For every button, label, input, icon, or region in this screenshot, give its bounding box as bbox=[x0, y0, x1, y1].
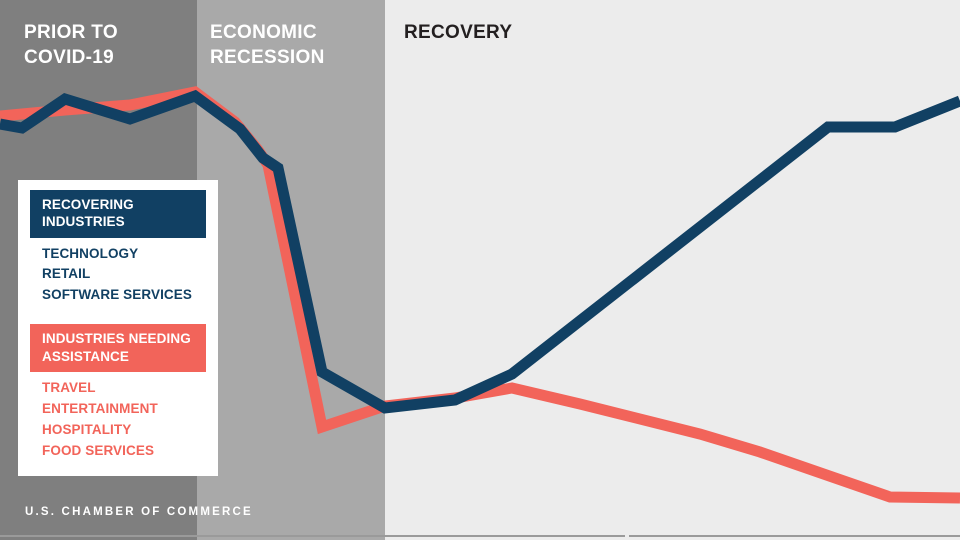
legend-item: TRAVEL bbox=[42, 378, 218, 399]
legend-header-industries-needing-assistance: INDUSTRIES NEEDING ASSISTANCE bbox=[30, 324, 206, 372]
legend-items-recovering-industries: TECHNOLOGY RETAIL SOFTWARE SERVICES bbox=[18, 238, 218, 307]
legend-items-industries-needing-assistance: TRAVEL ENTERTAINMENT HOSPITALITY FOOD SE… bbox=[18, 372, 218, 462]
legend-item: TECHNOLOGY bbox=[42, 244, 218, 265]
bottom-divider-notch bbox=[625, 534, 629, 540]
legend-item: HOSPITALITY bbox=[42, 420, 218, 441]
footer-brand-label: U.S. CHAMBER OF COMMERCE bbox=[25, 506, 253, 518]
bottom-divider bbox=[0, 535, 960, 537]
legend-item: RETAIL bbox=[42, 264, 218, 285]
chart-legend: RECOVERING INDUSTRIES TECHNOLOGY RETAIL … bbox=[18, 180, 218, 476]
legend-header-recovering-industries: RECOVERING INDUSTRIES bbox=[30, 190, 206, 238]
chart-canvas: PRIOR TO COVID-19 ECONOMIC RECESSION REC… bbox=[0, 0, 960, 540]
legend-group-industries-needing-assistance: INDUSTRIES NEEDING ASSISTANCE TRAVEL ENT… bbox=[18, 324, 218, 461]
legend-item: FOOD SERVICES bbox=[42, 441, 218, 462]
legend-item: SOFTWARE SERVICES bbox=[42, 285, 218, 306]
legend-group-recovering-industries: RECOVERING INDUSTRIES TECHNOLOGY RETAIL … bbox=[18, 190, 218, 306]
legend-item: ENTERTAINMENT bbox=[42, 399, 218, 420]
